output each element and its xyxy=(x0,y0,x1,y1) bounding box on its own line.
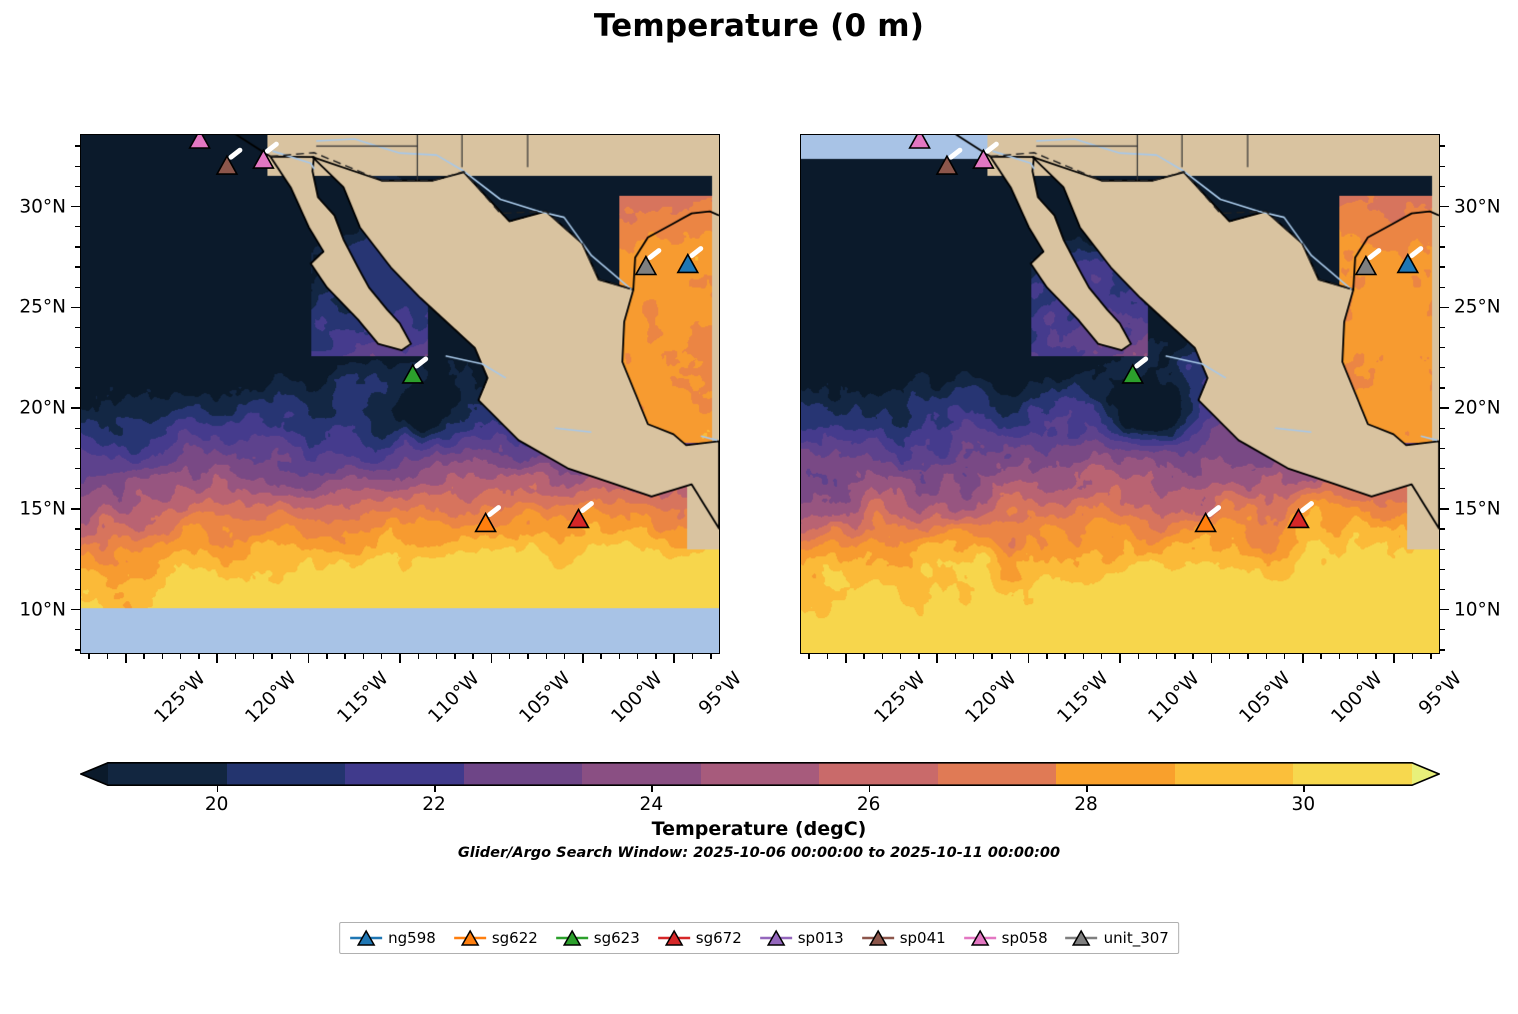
legend-marker-icon xyxy=(657,928,691,948)
x-tick-minor xyxy=(381,654,382,659)
x-tick-minor xyxy=(863,654,864,659)
y-tick-major xyxy=(71,206,80,208)
x-tick-minor xyxy=(235,654,236,659)
colorbar-band xyxy=(1175,762,1294,786)
y-tick-major xyxy=(1440,206,1449,208)
x-tick-major xyxy=(125,654,127,663)
colorbar-band xyxy=(819,762,938,786)
x-tick-minor xyxy=(509,654,510,659)
y-tick-minor xyxy=(75,468,80,469)
y-tick-minor xyxy=(75,629,80,630)
x-tick-minor xyxy=(808,654,809,659)
x-tick-major xyxy=(582,654,584,663)
y-tick-minor xyxy=(1440,246,1445,247)
y-tick-major xyxy=(71,307,80,309)
legend-label: unit_307 xyxy=(1104,929,1169,947)
x-tick-minor xyxy=(271,654,272,659)
y-axis-tick-label: 10°N xyxy=(1454,599,1501,620)
y-tick-minor xyxy=(75,166,80,167)
x-tick-minor xyxy=(1083,654,1084,659)
x-tick-minor xyxy=(991,654,992,659)
y-axis-tick-label: 25°N xyxy=(19,297,66,318)
y-axis-tick-label: 20°N xyxy=(19,398,66,419)
colorbar-band xyxy=(227,762,346,786)
legend-item-sg672[interactable]: sg672 xyxy=(657,928,742,948)
x-tick-minor xyxy=(1430,654,1431,659)
glider-marker-sg622[interactable] xyxy=(1196,514,1216,532)
x-tick-minor xyxy=(1320,654,1321,659)
y-axis-tick-label: 30°N xyxy=(1454,196,1501,217)
x-tick-minor xyxy=(1101,654,1102,659)
glider-marker-sg672[interactable] xyxy=(569,510,589,528)
y-axis-tick-label: 10°N xyxy=(19,599,66,620)
y-tick-minor xyxy=(1440,166,1445,167)
colorbar-band xyxy=(938,762,1057,786)
colorbar-band xyxy=(582,762,701,786)
x-tick-major xyxy=(936,654,938,663)
x-tick-minor xyxy=(655,654,656,659)
x-tick-minor xyxy=(107,654,108,659)
y-tick-minor xyxy=(75,145,80,146)
glider-marker-sg672[interactable] xyxy=(1289,510,1309,528)
y-tick-minor xyxy=(1440,589,1445,590)
x-tick-minor xyxy=(827,654,828,659)
x-tick-minor xyxy=(564,654,565,659)
legend-label: sp013 xyxy=(798,929,844,947)
glider-marker-sp058[interactable] xyxy=(253,150,273,168)
x-tick-minor xyxy=(973,654,974,659)
colorbar-band xyxy=(345,762,464,786)
colorbar-tick-label: 22 xyxy=(422,794,446,815)
y-tick-minor xyxy=(75,589,80,590)
x-axis-tick-label: 95°W xyxy=(695,668,746,719)
legend-item-sp013[interactable]: sp013 xyxy=(759,928,844,948)
glider-marker-sp058[interactable] xyxy=(973,150,993,168)
x-axis-tick-label: 110°W xyxy=(1144,668,1203,727)
colorbar[interactable]: 202224262830 xyxy=(80,762,1440,786)
glider-marker-unit_307[interactable] xyxy=(1356,257,1376,275)
y-tick-major xyxy=(1440,609,1449,611)
y-axis-tick-label: 20°N xyxy=(1454,398,1501,419)
x-tick-major xyxy=(1393,654,1395,663)
legend-label: sg622 xyxy=(492,929,538,947)
x-tick-minor xyxy=(1229,654,1230,659)
glider-track xyxy=(1302,504,1311,511)
x-tick-minor xyxy=(290,654,291,659)
map-panel-cmems[interactable]: CMEMS - 2025-10-11 00:00:00 xyxy=(800,134,1440,654)
x-tick-minor xyxy=(1138,654,1139,659)
legend-marker-icon xyxy=(555,928,589,948)
y-tick-minor xyxy=(75,226,80,227)
x-axis-tick-label: 100°W xyxy=(607,668,666,727)
y-tick-minor xyxy=(75,488,80,489)
x-tick-minor xyxy=(1284,654,1285,659)
x-tick-major xyxy=(1302,654,1304,663)
glider-track xyxy=(692,249,701,256)
x-tick-minor xyxy=(955,654,956,659)
colorbar-tick xyxy=(651,786,653,792)
y-tick-minor xyxy=(75,186,80,187)
y-tick-minor xyxy=(75,347,80,348)
y-tick-minor xyxy=(1440,327,1445,328)
x-tick-minor xyxy=(143,654,144,659)
y-tick-minor xyxy=(1440,367,1445,368)
y-tick-minor xyxy=(1440,629,1445,630)
legend-item-ng598[interactable]: ng598 xyxy=(349,928,436,948)
marker-overlay-rtofs xyxy=(81,135,719,653)
y-tick-minor xyxy=(1440,569,1445,570)
x-tick-minor xyxy=(1357,654,1358,659)
y-axis-tick-label: 15°N xyxy=(19,498,66,519)
colorbar-tick xyxy=(869,786,871,792)
legend-marker-icon xyxy=(1065,928,1099,948)
x-tick-minor xyxy=(1010,654,1011,659)
x-tick-minor xyxy=(637,654,638,659)
y-tick-minor xyxy=(75,287,80,288)
colorbar-band xyxy=(1056,762,1175,786)
x-tick-minor xyxy=(180,654,181,659)
y-tick-major xyxy=(1440,307,1449,309)
x-axis-tick-label: 105°W xyxy=(1236,668,1295,727)
glider-track xyxy=(1210,508,1219,515)
y-tick-minor xyxy=(1440,428,1445,429)
y-tick-minor xyxy=(75,327,80,328)
x-tick-major xyxy=(399,654,401,663)
colorbar-tick xyxy=(217,786,219,792)
glider-track xyxy=(1370,251,1379,258)
legend-item-sp041[interactable]: sp041 xyxy=(861,928,946,948)
x-axis-tick-label: 120°W xyxy=(962,668,1021,727)
x-axis-tick-label: 95°W xyxy=(1415,668,1466,719)
y-axis-tick-label: 25°N xyxy=(1454,297,1501,318)
legend-item-sg622[interactable]: sg622 xyxy=(453,928,538,948)
x-tick-minor xyxy=(918,654,919,659)
colorbar-tick-label: 24 xyxy=(640,794,664,815)
colorbar-tick-label: 20 xyxy=(205,794,229,815)
colorbar-tick xyxy=(1303,786,1305,792)
legend-label: sp041 xyxy=(900,929,946,947)
x-tick-minor xyxy=(88,654,89,659)
glider-marker-sg622[interactable] xyxy=(476,514,496,532)
x-tick-minor xyxy=(1375,654,1376,659)
y-tick-major xyxy=(1440,508,1449,510)
y-tick-major xyxy=(71,609,80,611)
legend-marker-icon xyxy=(759,928,793,948)
x-tick-minor xyxy=(527,654,528,659)
glider-track xyxy=(490,508,499,515)
glider-marker-ng598[interactable] xyxy=(1398,255,1418,273)
glider-marker-ng598[interactable] xyxy=(678,255,698,273)
x-tick-minor xyxy=(619,654,620,659)
x-tick-minor xyxy=(1174,654,1175,659)
x-tick-minor xyxy=(162,654,163,659)
colorbar-tick xyxy=(434,786,436,792)
legend-label: sg672 xyxy=(696,929,742,947)
glider-marker-sg623[interactable] xyxy=(403,365,423,383)
x-axis-tick-label: 125°W xyxy=(870,668,929,727)
legend-marker-icon xyxy=(349,928,383,948)
x-tick-minor xyxy=(198,654,199,659)
legend[interactable]: ng598sg622sg623sg672sp013sp041sp058unit_… xyxy=(339,922,1179,954)
y-tick-minor xyxy=(1440,549,1445,550)
y-tick-minor xyxy=(1440,347,1445,348)
colorbar-axis-label: Temperature (degC) xyxy=(0,818,1518,840)
map-panel-rtofs[interactable]: RTOFS - 2025-10-11 00:00:00 xyxy=(80,134,720,654)
y-tick-minor xyxy=(75,387,80,388)
glider-track xyxy=(650,251,659,258)
colorbar-tick-label: 30 xyxy=(1292,794,1316,815)
y-tick-minor xyxy=(1440,528,1445,529)
y-tick-major xyxy=(71,407,80,409)
legend-label: sg623 xyxy=(594,929,640,947)
x-tick-minor xyxy=(600,654,601,659)
x-tick-minor xyxy=(1156,654,1157,659)
x-tick-minor xyxy=(436,654,437,659)
colorbar-band xyxy=(1293,762,1412,786)
x-axis-tick-label: 115°W xyxy=(333,668,392,727)
y-tick-minor xyxy=(1440,649,1445,650)
search-window-text: Glider/Argo Search Window: 2025-10-06 00… xyxy=(0,845,1518,861)
glider-track xyxy=(951,150,960,157)
glider-track xyxy=(987,144,996,151)
y-axis-tick-label: 30°N xyxy=(19,196,66,217)
x-tick-major xyxy=(673,654,675,663)
glider-marker-sp041[interactable] xyxy=(937,156,957,174)
y-tick-minor xyxy=(1440,468,1445,469)
glider-track xyxy=(582,504,591,511)
marker-overlay-cmems xyxy=(801,135,1439,653)
glider-track xyxy=(1412,249,1421,256)
x-tick-minor xyxy=(1046,654,1047,659)
glider-marker-sg623[interactable] xyxy=(1123,365,1143,383)
x-tick-minor xyxy=(546,654,547,659)
glider-track xyxy=(1137,359,1146,366)
y-tick-major xyxy=(1440,407,1449,409)
legend-item-unit_307[interactable]: unit_307 xyxy=(1065,928,1169,948)
y-tick-minor xyxy=(75,367,80,368)
x-tick-major xyxy=(216,654,218,663)
y-tick-minor xyxy=(75,549,80,550)
x-tick-minor xyxy=(454,654,455,659)
x-tick-minor xyxy=(344,654,345,659)
y-tick-major xyxy=(71,508,80,510)
glider-marker-sp058[interactable] xyxy=(190,135,210,148)
y-tick-minor xyxy=(1440,387,1445,388)
colorbar-band xyxy=(108,762,227,786)
page-title: Temperature (0 m) xyxy=(0,8,1518,44)
y-tick-minor xyxy=(1440,186,1445,187)
x-axis-tick-label: 105°W xyxy=(516,668,575,727)
glider-marker-sp058[interactable] xyxy=(910,135,930,148)
y-tick-minor xyxy=(1440,488,1445,489)
x-tick-minor xyxy=(1247,654,1248,659)
x-tick-minor xyxy=(710,654,711,659)
glider-track xyxy=(267,144,276,151)
legend-item-sp058[interactable]: sp058 xyxy=(963,928,1048,948)
x-axis-tick-label: 115°W xyxy=(1053,668,1112,727)
legend-label: sp058 xyxy=(1002,929,1048,947)
colorbar-extend-high xyxy=(1412,762,1440,786)
x-tick-major xyxy=(1211,654,1213,663)
x-tick-minor xyxy=(418,654,419,659)
colorbar-extend-low xyxy=(80,762,108,786)
legend-marker-icon xyxy=(963,928,997,948)
glider-marker-sp041[interactable] xyxy=(217,156,237,174)
x-tick-minor xyxy=(326,654,327,659)
colorbar-tick-label: 26 xyxy=(857,794,881,815)
colorbar-band xyxy=(464,762,583,786)
x-tick-major xyxy=(1028,654,1030,663)
y-tick-minor xyxy=(75,448,80,449)
legend-item-sg623[interactable]: sg623 xyxy=(555,928,640,948)
x-tick-minor xyxy=(472,654,473,659)
y-tick-minor xyxy=(75,569,80,570)
y-tick-minor xyxy=(1440,266,1445,267)
x-tick-major xyxy=(845,654,847,663)
glider-track xyxy=(417,359,426,366)
colorbar-tick-label: 28 xyxy=(1074,794,1098,815)
colorbar-band xyxy=(701,762,820,786)
x-tick-minor xyxy=(900,654,901,659)
y-tick-minor xyxy=(1440,287,1445,288)
colorbar-tick xyxy=(1086,786,1088,792)
y-tick-minor xyxy=(75,528,80,529)
y-tick-minor xyxy=(1440,226,1445,227)
x-axis-tick-label: 125°W xyxy=(150,668,209,727)
legend-label: ng598 xyxy=(388,929,436,947)
glider-track xyxy=(231,150,240,157)
legend-marker-icon xyxy=(861,928,895,948)
x-tick-minor xyxy=(1412,654,1413,659)
glider-marker-unit_307[interactable] xyxy=(636,257,656,275)
x-axis-tick-label: 100°W xyxy=(1327,668,1386,727)
y-tick-minor xyxy=(1440,145,1445,146)
x-tick-minor xyxy=(253,654,254,659)
y-tick-minor xyxy=(1440,448,1445,449)
y-tick-minor xyxy=(75,266,80,267)
legend-marker-icon xyxy=(453,928,487,948)
colorbar-bands xyxy=(108,762,1412,786)
x-tick-minor xyxy=(1266,654,1267,659)
x-tick-minor xyxy=(692,654,693,659)
x-tick-minor xyxy=(363,654,364,659)
x-tick-major xyxy=(308,654,310,663)
y-axis-tick-label: 15°N xyxy=(1454,498,1501,519)
x-axis-tick-label: 110°W xyxy=(424,668,483,727)
x-axis-tick-label: 120°W xyxy=(242,668,301,727)
x-tick-minor xyxy=(1064,654,1065,659)
x-tick-major xyxy=(1119,654,1121,663)
y-tick-minor xyxy=(75,246,80,247)
y-tick-minor xyxy=(75,649,80,650)
x-tick-minor xyxy=(1339,654,1340,659)
x-tick-minor xyxy=(1192,654,1193,659)
x-tick-major xyxy=(491,654,493,663)
y-tick-minor xyxy=(75,428,80,429)
x-tick-minor xyxy=(882,654,883,659)
